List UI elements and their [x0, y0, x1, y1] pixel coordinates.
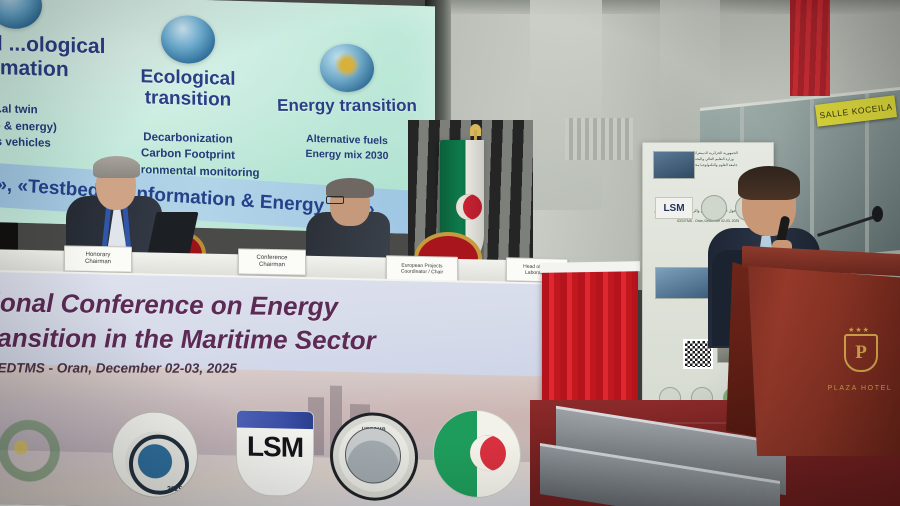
rollup-photo-1 — [653, 151, 695, 179]
laptop-on-table — [148, 212, 199, 254]
placard-honorary-chairman: Honorary Chairman — [64, 245, 132, 272]
lsm-logo-bar — [237, 410, 313, 429]
globe-ship-icon — [320, 43, 374, 93]
slide-heading-1: ...al and ...ological ...ormation — [0, 30, 110, 82]
conference-photo-scene: SALLE KOCEILA ...al and ...ological ...o… — [0, 0, 900, 506]
boom-microphone-icon — [872, 206, 883, 222]
globe-eco-icon — [161, 15, 215, 65]
algeria-flag-logo — [434, 410, 520, 498]
speaker-hair — [738, 166, 800, 200]
panelist-honorary-hair — [93, 156, 140, 178]
lsm-logo-text: LSM — [237, 430, 313, 464]
banner-title-line2: ...Transition in the Maritime Sector — [0, 322, 376, 356]
slide-heading-3: Energy transition — [262, 96, 432, 115]
ustomb-building-icon — [345, 427, 401, 484]
panelist-second-hair — [326, 178, 374, 198]
conference-wheel-logo: 2025 — [112, 411, 198, 499]
placard-conference-chairman: Conference Chairman — [238, 248, 306, 275]
rollup-logo-2 — [701, 195, 727, 221]
red-drape-upper-right — [790, 0, 830, 96]
plaza-hotel-shield-icon: ★★★ P — [836, 326, 882, 380]
ustomb-seal-logo: USTOMB — [330, 412, 418, 502]
salle-koceila-label: SALLE KOCEILA — [819, 102, 893, 121]
slide-column-1: ...al and ...ological ...ormation ...al … — [0, 0, 110, 154]
conference-logo-year: 2025 — [167, 486, 183, 493]
slide-heading-2: Ecological transition — [108, 65, 268, 112]
rollup-photo-2 — [655, 267, 709, 299]
banner-subtitle: ICEDTMS - Oran, December 02-03, 2025 — [0, 360, 237, 375]
wall-column-left — [530, 0, 602, 210]
flag-crescent-icon — [470, 435, 506, 472]
placard-conference-line2: Chairman — [256, 262, 287, 270]
rollup-lsm-logo: LSM — [655, 197, 693, 219]
conference-banner: ...national Conference on Energy ...Tran… — [0, 270, 546, 506]
slide-column-3: Energy transition Alternative fuels Ener… — [262, 42, 432, 166]
draped-table-top — [540, 261, 640, 273]
slide-column-2: Ecological transition Decarbonization Ca… — [108, 13, 268, 182]
podium-stars: ★★★ — [845, 326, 873, 334]
lsm-logo: LSM — [236, 409, 314, 497]
globe-icon — [0, 0, 42, 29]
podium-monogram: P — [844, 334, 878, 372]
eyeglasses-icon — [326, 196, 344, 204]
banner-title-line1: ...national Conference on Energy — [0, 287, 338, 323]
placard-honorary-line2: Chairman — [85, 259, 111, 267]
placard-european-line2: Coordinator / Chair — [401, 269, 443, 276]
wall-vent — [565, 118, 633, 160]
podium-brand-label: PLAZA HOTEL — [820, 385, 900, 392]
